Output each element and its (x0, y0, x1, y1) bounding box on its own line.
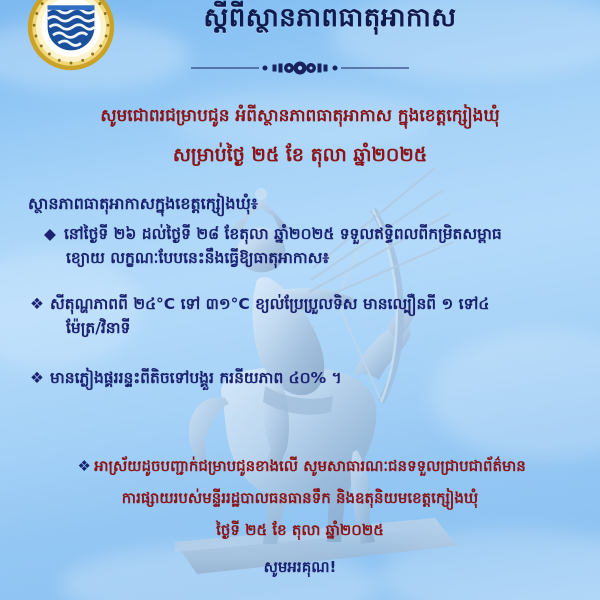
forecast-bullet-1-line-1: នៅថ្ងៃទី ២៦ ដល់ថ្ងៃទី ២៨ ខែតុលា ឆ្នាំ២០២… (64, 225, 502, 243)
welcome-subtitle: សូមជោពរជម្រាបជូន អំពីស្ថានភាពធាតុអាកាស ក… (30, 104, 570, 130)
footer-date-line: ថ្ងៃទី ២៥ ខែ តុលា ឆ្នាំ២០២៥ (24, 519, 576, 542)
floral-bullet-icon: ❖ (30, 292, 50, 316)
forecast-bullet-3-line-1: មានភ្លៀងផ្គររន្ទះពីតិចទៅបង្គួរ ករនីយភាព … (50, 369, 342, 387)
forecast-bullet-1-line-2: ខ្យោយ លក្ខណៈបែបនេះនឹងធ្វើឱ្យធាតុអាកាស៖ (30, 246, 578, 270)
forecast-bullet-2-line-1: សីតុណ្ហភាពពី ២៤°C ទៅ ៣១°C ខ្យល់ប្រែប្រួល… (50, 295, 489, 313)
footer-notice-text: អាស្រ័យដូចបញ្ជាក់ជម្រាបជូនខាងលើ សូមសាធារ… (94, 457, 526, 475)
floral-bullet-icon: ❖ (74, 455, 94, 478)
forecast-bullet-2: ❖សីតុណ្ហភាពពី ២៤°C ទៅ ៣១°C ខ្យល់ប្រែប្រួ… (30, 292, 578, 340)
forecast-bullet-1: ◆នៅថ្ងៃទី ២៦ ដល់ថ្ងៃទី ២៨ ខែតុលា ឆ្នាំ២០… (30, 222, 578, 270)
forecast-date-line: សម្រាប់ថ្ងៃ ២៥ ខែ តុលា ឆ្នាំ២០២៥ (30, 142, 570, 169)
weather-announcement-poster: ស្ដីពីស្ថានភាពធាតុអាកាស (0, 0, 600, 600)
floral-bullet-icon: ❖ (30, 366, 50, 390)
ornamental-divider (0, 58, 600, 78)
forecast-bullet-2-line-2: ម៉ែត្រ/វិនាទី (30, 316, 578, 340)
page-title: ស្ដីពីស្ថានភាពធាតុអាកាស (120, 2, 540, 35)
forecast-bullet-3: ❖មានភ្លៀងផ្គររន្ទះពីតិចទៅបង្គួរ ករនីយភាព… (30, 366, 578, 390)
thank-you-line: សូមអរគុណ! (24, 558, 576, 580)
footer-issuer-line: ការផ្សាយរបស់មន្ទីររដ្ឋបាលធនធានទឹក និងឧតុ… (24, 487, 576, 510)
diamond-bullet-icon: ◆ (30, 222, 64, 246)
section-heading: ស្ថានភាពធាតុអាកាសក្នុងខេត្តក្សៀងឃុំ៖ (28, 193, 258, 217)
footer-notice-line-1: ❖អាស្រ័យដូចបញ្ជាក់ជម្រាបជូនខាងលើ សូមសាធា… (24, 455, 576, 478)
